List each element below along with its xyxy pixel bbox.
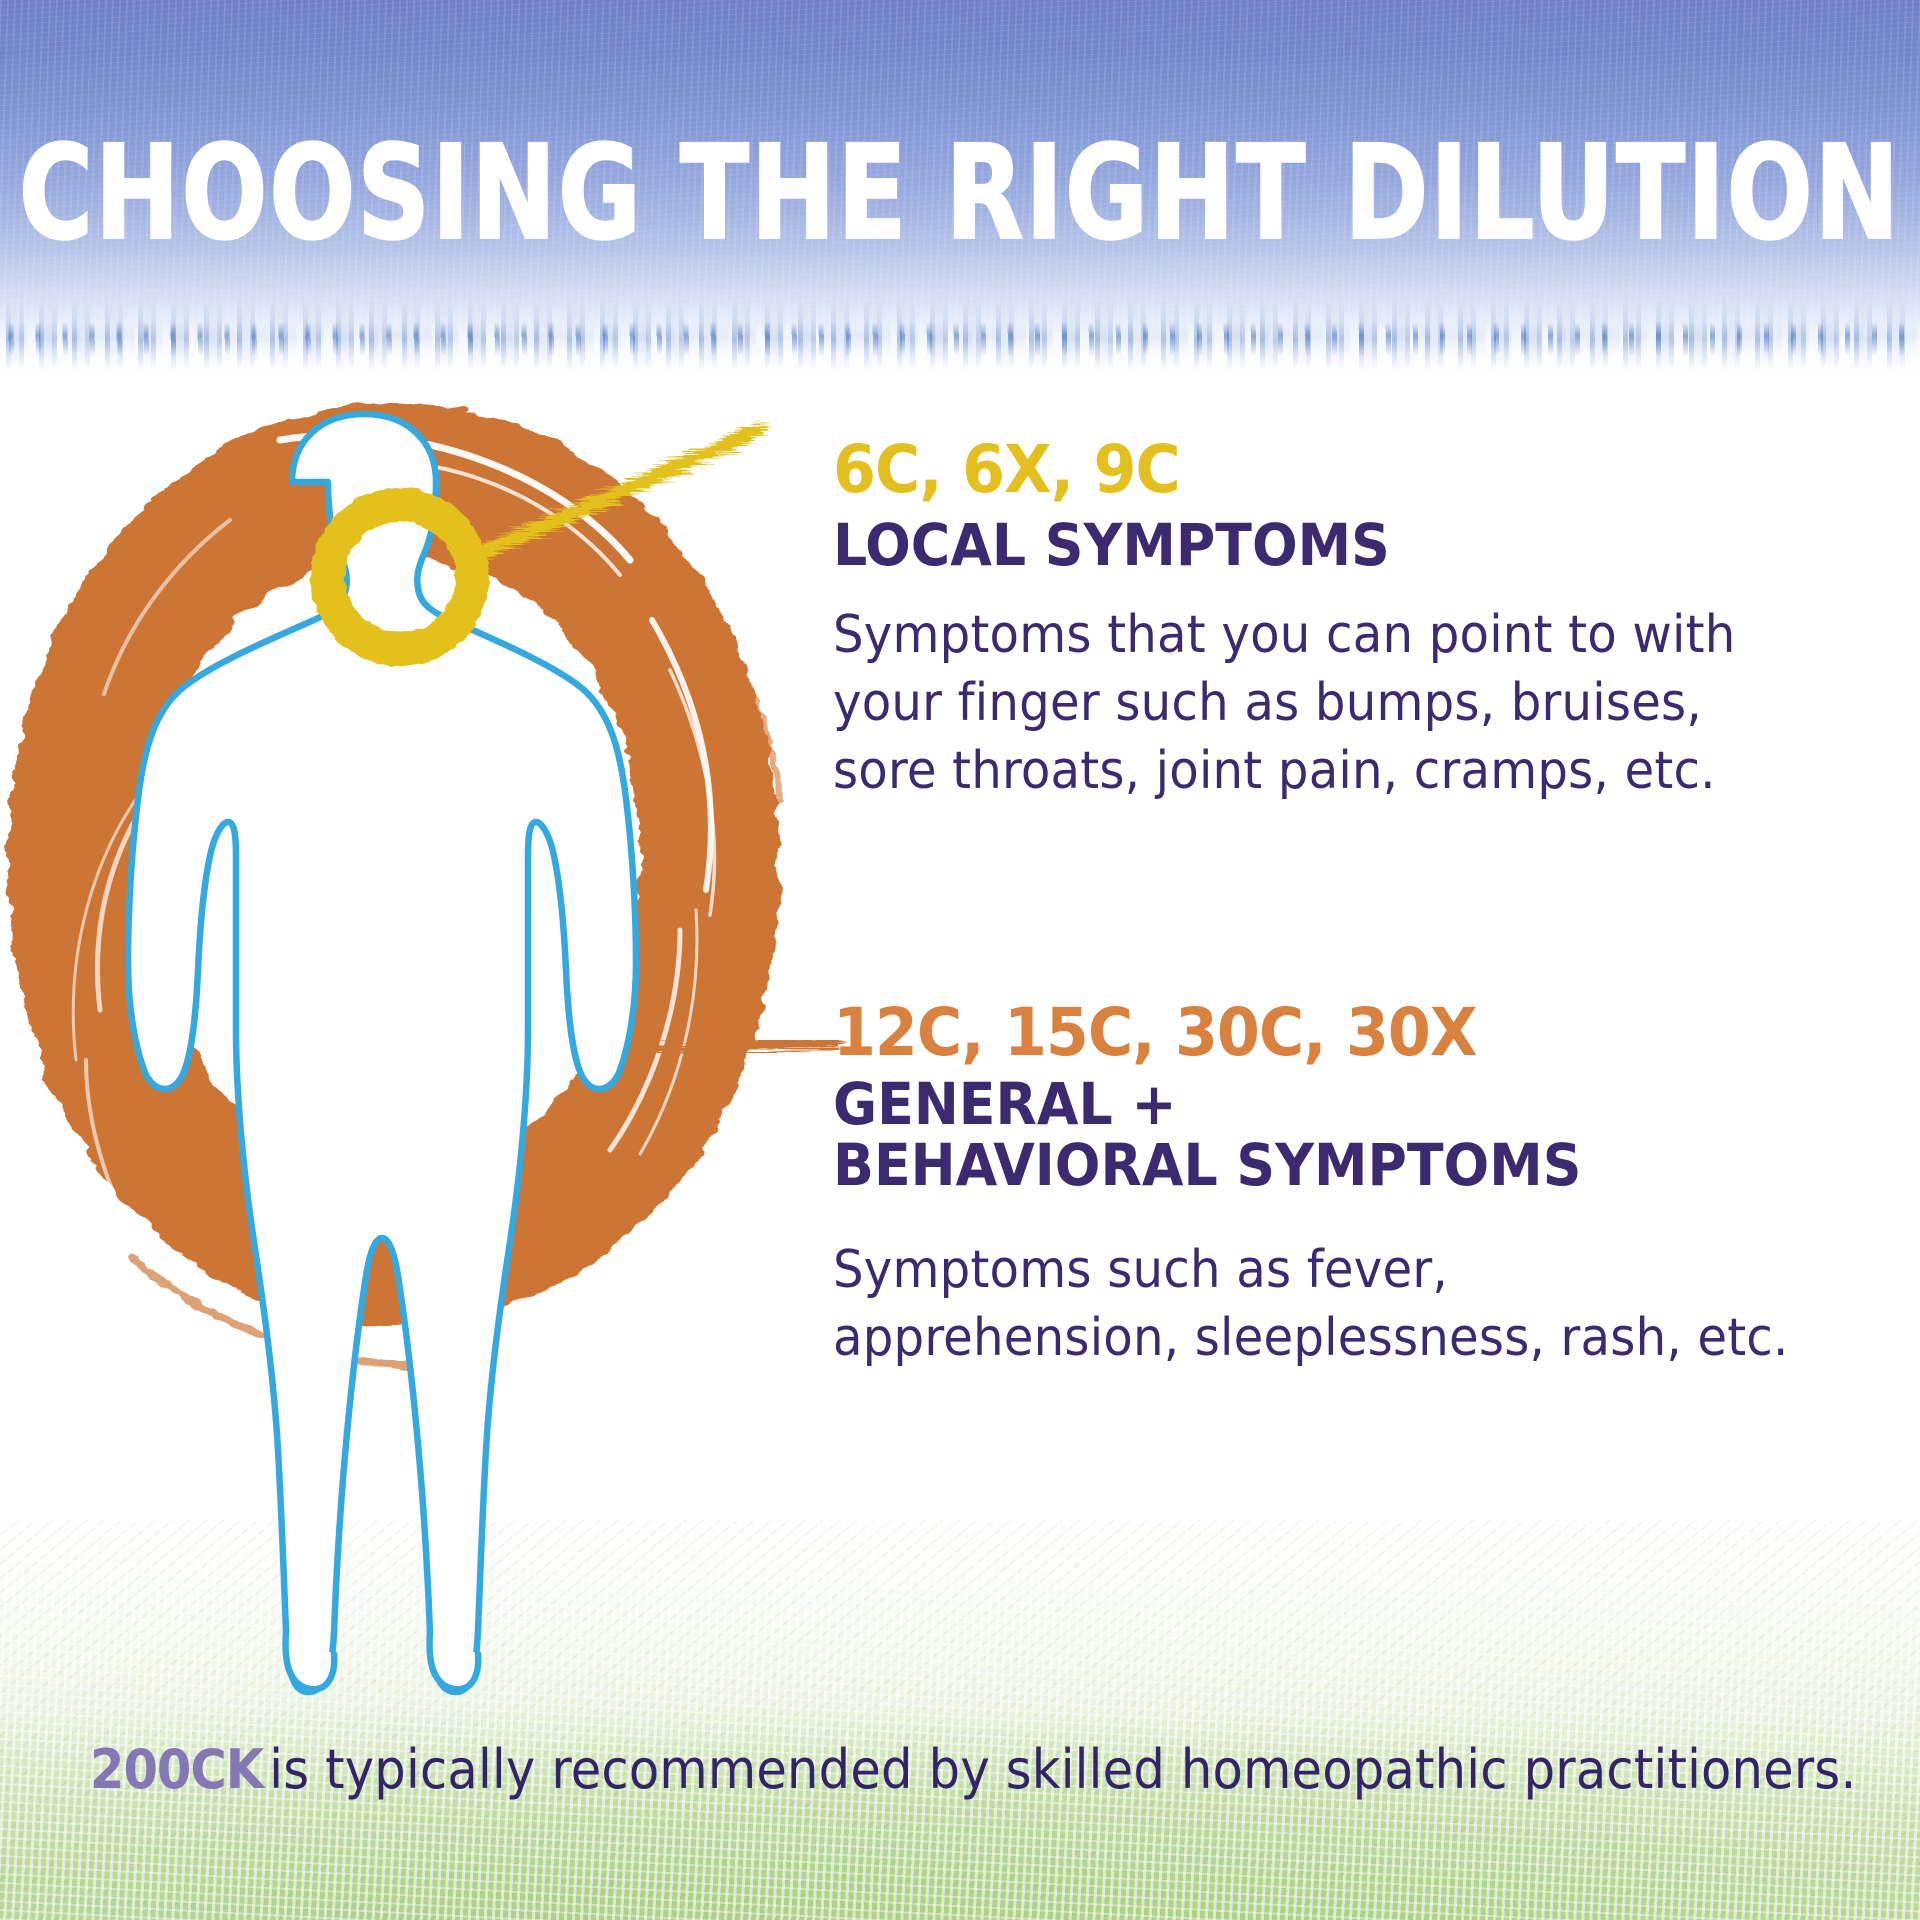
potency-label-general: 12C, 15C, 30C, 30X: [833, 1000, 1873, 1066]
dilution-block-local: 6C, 6X, 9C LOCAL SYMPTOMS Symptoms that …: [833, 437, 1833, 805]
header-watercolor-edge-dark: [0, 322, 1920, 356]
footer-note-text: is typically recommended by skilled home…: [269, 1738, 1856, 1801]
page-title: CHOOSING THE RIGHT DILUTION: [0, 128, 1920, 258]
heading-general-behavioral-symptoms: GENERAL +BEHAVIORAL SYMPTOMS: [833, 1074, 1863, 1197]
infographic-page: CHOOSING THE RIGHT DILUTION: [0, 0, 1920, 1920]
body-local-symptoms: Symptoms that you can point to with your…: [833, 602, 1801, 805]
body-general-behavioral-symptoms: Symptoms such as fever, apprehension, sl…: [833, 1237, 1801, 1372]
orange-leader-stroke: [652, 1044, 836, 1050]
footer-potency-label: 200CK: [90, 1738, 263, 1801]
potency-label-local: 6C, 6X, 9C: [833, 437, 1873, 503]
heading-local-symptoms: LOCAL SYMPTOMS: [833, 515, 1863, 576]
footer-note: 200CKis typically recommended by skilled…: [90, 1738, 1916, 1801]
illustration: [0, 370, 860, 1710]
dilution-block-general: 12C, 15C, 30C, 30X GENERAL +BEHAVIORAL S…: [833, 1000, 1833, 1372]
